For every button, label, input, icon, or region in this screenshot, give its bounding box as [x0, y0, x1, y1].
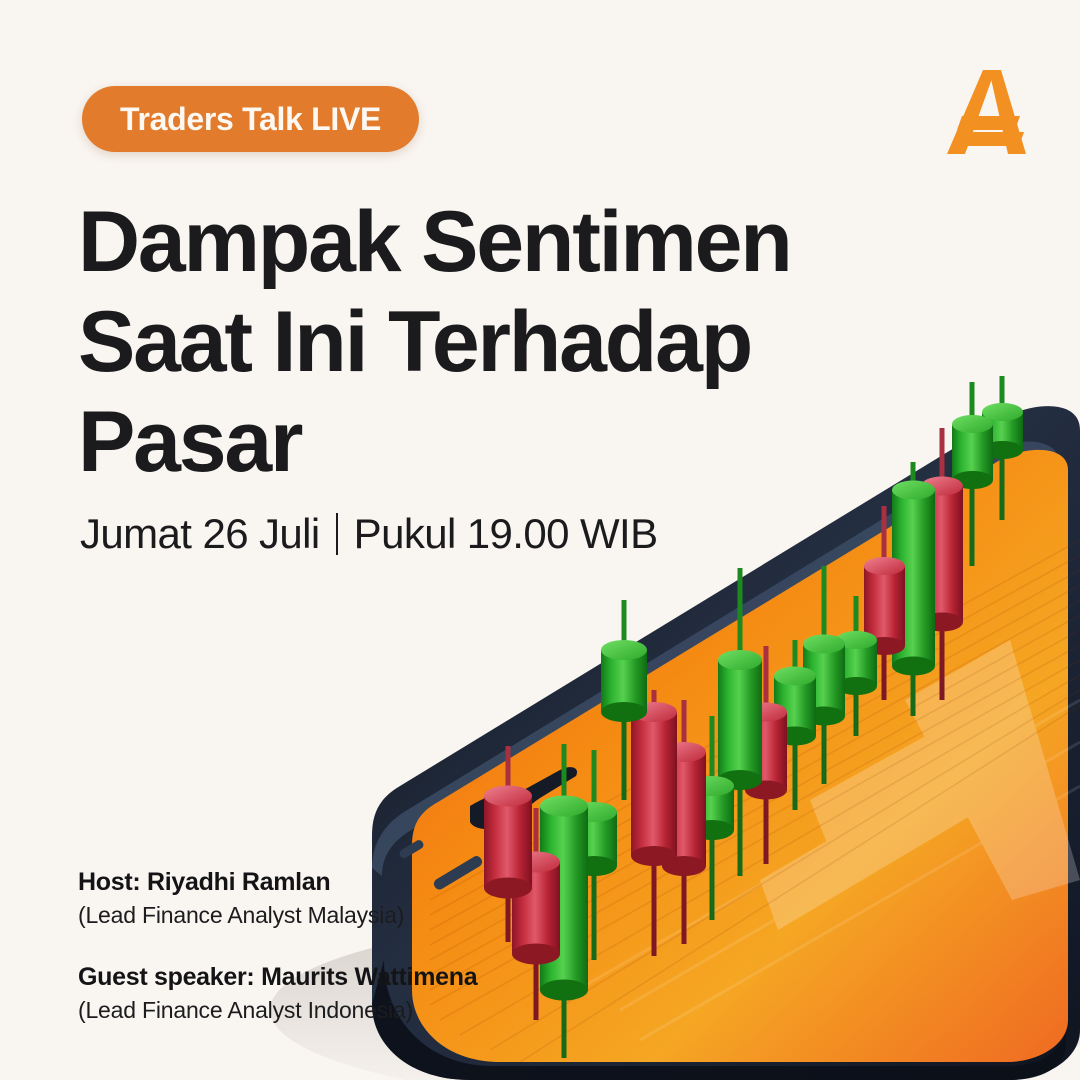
guest-name: Guest speaker: Maurits Wattimena	[78, 961, 477, 994]
credit-host: Host: Riyadhi Ramlan (Lead Finance Analy…	[78, 866, 477, 931]
promo-poster: Traders Talk LIVE Dampak Sentimen Saat I…	[0, 0, 1080, 1080]
headline-line-1: Dampak Sentimen	[78, 192, 798, 292]
guest-role: (Lead Finance Analyst Indonesia)	[78, 994, 477, 1026]
brand-logo-a-icon	[934, 58, 1038, 162]
credit-guest: Guest speaker: Maurits Wattimena (Lead F…	[78, 961, 477, 1026]
page-title: Dampak Sentimen Saat Ini Terhadap Pasar	[78, 192, 798, 492]
schedule-separator-icon	[336, 513, 338, 555]
live-badge-label: Traders Talk LIVE	[120, 101, 381, 138]
schedule-line: Jumat 26 Juli Pukul 19.00 WIB	[80, 510, 657, 558]
credits: Host: Riyadhi Ramlan (Lead Finance Analy…	[78, 866, 477, 1026]
headline-line-2: Saat Ini Terhadap	[78, 292, 798, 392]
host-name: Host: Riyadhi Ramlan	[78, 866, 477, 899]
live-badge[interactable]: Traders Talk LIVE	[82, 86, 419, 152]
headline-line-3: Pasar	[78, 392, 798, 492]
schedule-date: Jumat 26 Juli	[80, 510, 320, 558]
host-role: (Lead Finance Analyst Malaysia)	[78, 899, 477, 931]
schedule-time: Pukul 19.00 WIB	[354, 510, 658, 558]
